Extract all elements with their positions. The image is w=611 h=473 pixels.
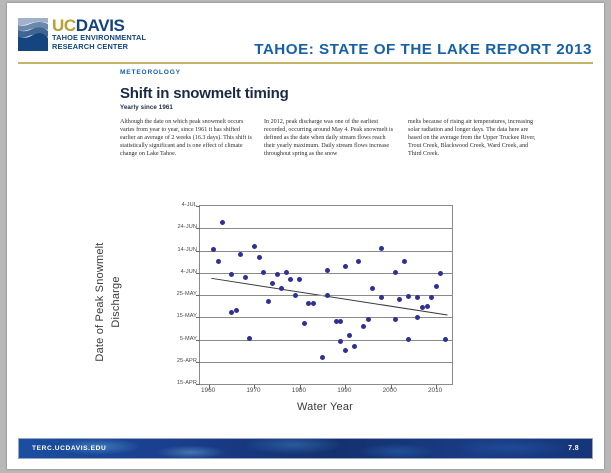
logo-wordmark: UCDAVIS TAHOE ENVIRONMENTAL RESEARCH CEN… [52, 17, 197, 51]
snowmelt-timing-chart: Date of Peak Snowmelt Discharge Water Ye… [127, 199, 467, 429]
chart-y-tick-label: 4-JUN [151, 269, 197, 275]
article-column-3: melts because of rising air temperatures… [408, 118, 540, 158]
chart-y-tick-label: 5-MAY [151, 336, 197, 342]
chart-y-tick-label: 25-MAY [151, 291, 197, 297]
chart-x-tick-label: 1980 [279, 387, 319, 394]
page-footer: TERC.UCDAVIS.EDU 7.8 [18, 438, 593, 459]
chart-data-point [343, 264, 348, 269]
chart-y-tick-label: 24-JUN [151, 224, 197, 230]
chart-data-point [243, 275, 248, 280]
chart-data-point [370, 286, 375, 291]
chart-data-point [216, 259, 221, 264]
chart-data-point [402, 259, 407, 264]
chart-data-point [293, 293, 298, 298]
logo-subtitle-line2: RESEARCH CENTER [52, 43, 197, 52]
chart-x-tick-label: 1970 [233, 387, 273, 394]
chart-x-tick-label: 1990 [324, 387, 364, 394]
chart-y-tick-label: 4-JUL [151, 202, 197, 208]
report-page: UCDAVIS TAHOE ENVIRONMENTAL RESEARCH CEN… [7, 3, 604, 469]
chart-data-point [266, 299, 271, 304]
chart-data-point [393, 270, 398, 275]
chart-gridline [200, 340, 452, 341]
chart-gridline [200, 228, 452, 229]
logo-ucdavis-text: UCDAVIS [52, 17, 197, 34]
uc-davis-terc-logo: UCDAVIS TAHOE ENVIRONMENTAL RESEARCH CEN… [18, 17, 198, 57]
y-axis-label-line1: Date of Peak Snowmelt [92, 227, 108, 377]
section-kicker: METEOROLOGY [120, 69, 540, 76]
article-column-1: Although the date on which peak snowmelt… [120, 118, 252, 158]
chart-y-tick-label: 25-APR [151, 358, 197, 364]
chart-data-point [325, 268, 330, 273]
chart-data-point [234, 308, 239, 313]
chart-data-point [361, 324, 366, 329]
chart-data-point [434, 284, 439, 289]
footer-url: TERC.UCDAVIS.EDU [32, 445, 106, 452]
footer-page-number: 7.8 [568, 445, 579, 452]
chart-data-point [252, 244, 257, 249]
chart-x-axis-label: Water Year [199, 401, 451, 413]
report-title: TAHOE: STATE OF THE LAKE REPORT 2013 [254, 41, 592, 58]
chart-y-tick-label: 14-JUN [151, 247, 197, 253]
chart-data-point [429, 295, 434, 300]
article-column-2: In 2012, peak discharge was one of the e… [264, 118, 396, 158]
article-columns: Although the date on which peak snowmelt… [120, 118, 540, 158]
header-divider [18, 62, 593, 64]
chart-data-point [443, 337, 448, 342]
chart-gridline [200, 317, 452, 318]
chart-y-tick-label: 15-MAY [151, 313, 197, 319]
chart-data-point [352, 344, 357, 349]
chart-gridline [200, 251, 452, 252]
chart-data-point [379, 295, 384, 300]
terc-waves-logo-icon [18, 18, 48, 51]
chart-data-point [347, 333, 352, 338]
chart-data-point [325, 293, 330, 298]
page-title: Shift in snowmelt timing [120, 85, 540, 102]
article-subhead: Yearly since 1961 [120, 104, 540, 111]
page-header: UCDAVIS TAHOE ENVIRONMENTAL RESEARCH CEN… [7, 3, 604, 61]
chart-data-point [425, 304, 430, 309]
chart-x-tick-label: 2010 [415, 387, 455, 394]
chart-plot-area [199, 205, 453, 385]
chart-gridline [200, 362, 452, 363]
y-axis-label-line2: Discharge [108, 227, 124, 377]
chart-data-point [320, 355, 325, 360]
chart-data-point [343, 348, 348, 353]
chart-y-axis-label: Date of Peak Snowmelt Discharge [92, 227, 128, 377]
chart-x-tick-label: 1960 [188, 387, 228, 394]
chart-data-point [393, 317, 398, 322]
chart-data-point [257, 255, 262, 260]
article-body: METEOROLOGY Shift in snowmelt timing Yea… [120, 69, 540, 158]
chart-x-tick-label: 2000 [370, 387, 410, 394]
chart-data-point [379, 246, 384, 251]
chart-data-point [211, 247, 216, 252]
chart-y-tick-label: 15-APR [151, 380, 197, 386]
chart-data-point [366, 317, 371, 322]
